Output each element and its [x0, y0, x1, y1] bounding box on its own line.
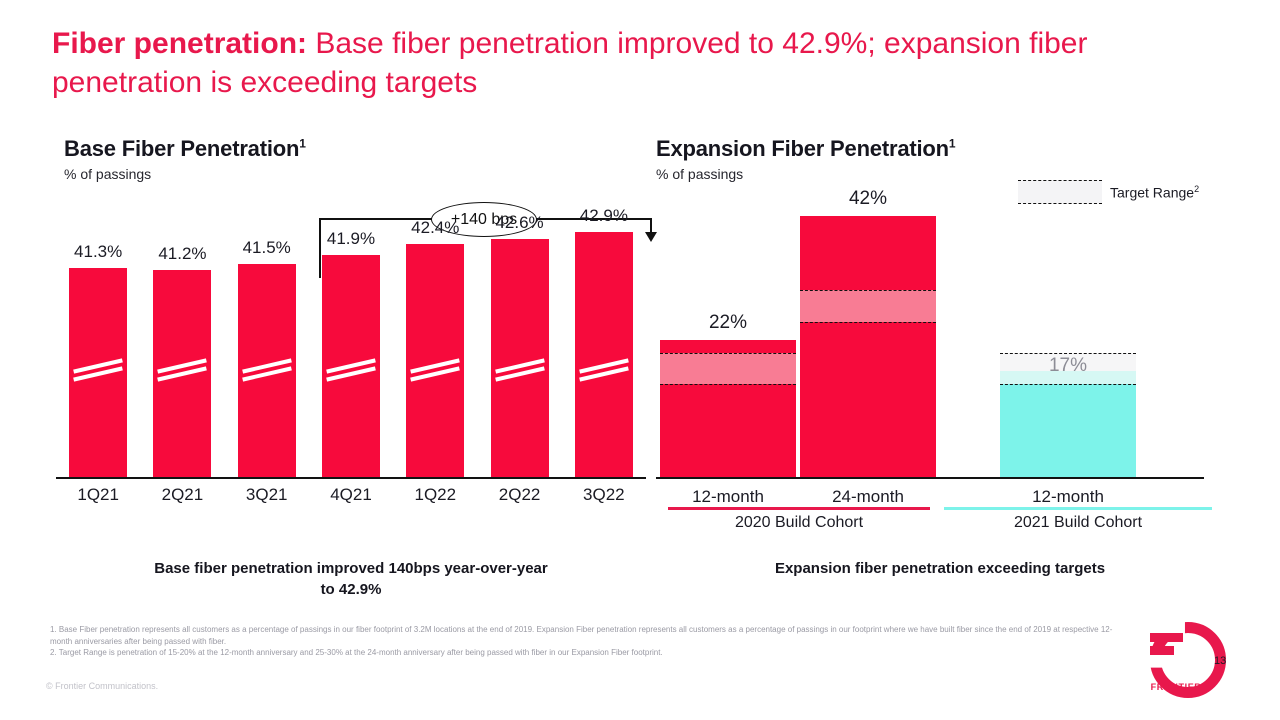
cohort-rule-2021 [944, 507, 1212, 510]
page-number: 13 [1214, 655, 1226, 667]
target-range-upper-line [1000, 353, 1136, 354]
footnotes: 1. Base Fiber penetration represents all… [50, 624, 1120, 659]
footnote-1: 1. Base Fiber penetration represents all… [50, 624, 1120, 647]
base-chart-axis [56, 477, 646, 479]
right-panel-subtitle: % of passings [656, 166, 955, 182]
target-range-lower-line [1000, 384, 1136, 385]
base-bar-value-label: 42.6% [475, 213, 565, 233]
expansion-x-label: 12-month [658, 487, 798, 507]
base-x-label: 4Q21 [306, 485, 396, 505]
target-range-upper-line [800, 290, 936, 291]
right-panel-title: Expansion Fiber Penetration1 [656, 136, 955, 162]
slide: Fiber penetration: Base fiber penetratio… [0, 0, 1280, 720]
right-panel-caption: Expansion fiber penetration exceeding ta… [660, 558, 1220, 579]
expansion-fiber-penetration-chart: 22%42%17% 12-month24-month12-month [656, 190, 1216, 490]
base-bar [322, 255, 380, 477]
base-x-label: 1Q22 [390, 485, 480, 505]
target-range-lower-line [660, 384, 796, 385]
left-panel-title-text: Base Fiber Penetration [64, 136, 299, 161]
cohort-label-2021: 2021 Build Cohort [944, 514, 1212, 532]
page-title: Fiber penetration: Base fiber penetratio… [52, 24, 1222, 102]
left-panel-title: Base Fiber Penetration1 [64, 136, 306, 162]
expansion-chart-axis [656, 477, 1204, 479]
target-range-band [800, 290, 936, 321]
frontier-logo-bar-top [1150, 633, 1183, 642]
base-x-label: 3Q21 [222, 485, 312, 505]
expansion-x-label: 12-month [998, 487, 1138, 507]
copyright-text: © Frontier Communications. [46, 681, 158, 691]
left-panel-subtitle: % of passings [64, 166, 306, 182]
target-range-swatch-top-dash [1018, 180, 1102, 181]
frontier-logo: FRONTIER [1140, 620, 1212, 704]
base-fiber-penetration-chart: +140 bps 41.3%41.2%41.5%41.9%42.4%42.6%4… [56, 190, 646, 510]
base-x-label: 2Q21 [137, 485, 227, 505]
base-bar-value-label: 41.9% [306, 229, 396, 249]
expansion-bar-red [800, 216, 936, 477]
cohort-rule-2020 [668, 507, 930, 510]
left-panel-caption: Base fiber penetration improved 140bps y… [56, 558, 646, 600]
right-panel-title-text: Expansion Fiber Penetration [656, 136, 949, 161]
base-bar [491, 239, 549, 477]
left-panel-title-superscript: 1 [299, 137, 305, 151]
target-range-lower-line [800, 322, 936, 323]
base-x-label: 1Q21 [53, 485, 143, 505]
base-bar-value-label: 41.3% [53, 242, 143, 262]
base-bar [238, 264, 296, 477]
base-bar [575, 232, 633, 477]
base-bar-value-label: 41.5% [222, 238, 312, 258]
base-bar-value-label: 41.2% [137, 244, 227, 264]
expansion-bar-cyan [1000, 371, 1136, 477]
expansion-bar-value-label: 17% [1008, 355, 1128, 377]
expansion-bar-value-label: 22% [668, 312, 788, 334]
base-x-label: 2Q22 [475, 485, 565, 505]
expansion-bar-value-label: 42% [808, 188, 928, 210]
base-bar [406, 244, 464, 477]
right-panel-heading-group: Expansion Fiber Penetration1 % of passin… [656, 136, 955, 182]
footnote-2: 2. Target Range is penetration of 15-20%… [50, 647, 1120, 659]
expansion-x-label: 24-month [798, 487, 938, 507]
target-range-band [660, 353, 796, 384]
target-range-upper-line [660, 353, 796, 354]
left-caption-line1: Base fiber penetration improved 140bps y… [56, 558, 646, 579]
cohort-label-2020: 2020 Build Cohort [668, 514, 930, 532]
frontier-logo-wordmark: FRONTIER [1144, 682, 1208, 692]
left-panel-heading-group: Base Fiber Penetration1 % of passings [64, 136, 306, 182]
frontier-logo-bar-mid [1150, 646, 1174, 655]
left-caption-line2: to 42.9% [56, 579, 646, 600]
page-title-lead: Fiber penetration: [52, 27, 307, 60]
base-bar-value-label: 42.4% [390, 218, 480, 238]
base-bar [153, 270, 211, 477]
base-bar [69, 268, 127, 477]
base-bar-value-label: 42.9% [559, 206, 649, 226]
right-panel-title-superscript: 1 [949, 137, 955, 151]
base-x-label: 3Q22 [559, 485, 649, 505]
